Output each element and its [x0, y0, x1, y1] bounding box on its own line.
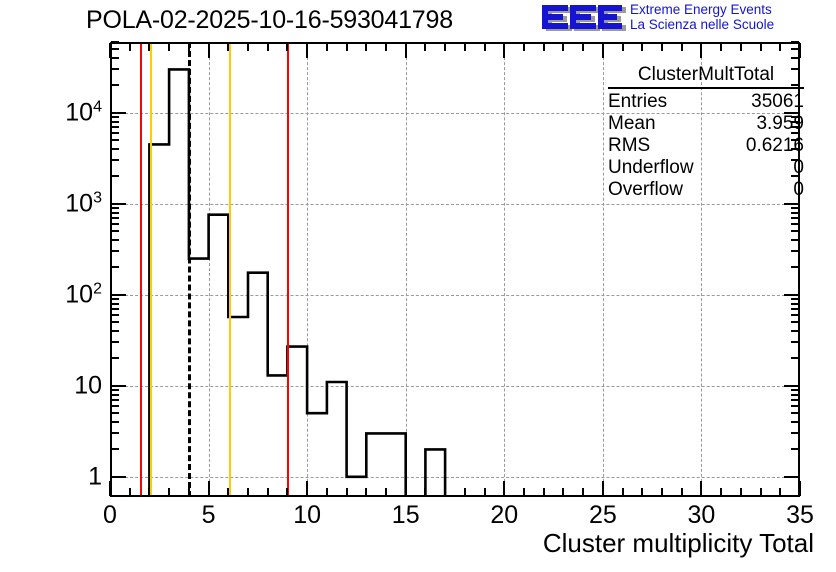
y-tick-minor — [111, 41, 119, 43]
eee-logo-line2: La Scienza nelle Scuole — [630, 17, 835, 32]
stats-row: Overflow0 — [608, 179, 804, 201]
x-tick-minor — [661, 488, 663, 496]
stats-key: RMS — [608, 135, 656, 157]
x-tick-minor — [740, 488, 742, 496]
x-tick-major — [306, 481, 308, 496]
stats-title: ClusterMultTotal — [608, 64, 804, 89]
y-tick-label: 1 — [10, 462, 102, 491]
y-tick-major — [111, 112, 126, 114]
x-tick-label: 10 — [293, 501, 321, 530]
x-tick-minor-top — [424, 43, 426, 51]
y-tick-minor — [111, 321, 119, 323]
y-tick-minor — [111, 139, 119, 141]
x-tick-minor-top — [740, 43, 742, 51]
y-tick-minor — [111, 357, 119, 359]
x-tick-minor — [484, 488, 486, 496]
y-tick-minor — [111, 412, 119, 414]
y-tick-minor — [111, 239, 119, 241]
stats-row: RMS0.6216 — [608, 135, 804, 157]
x-tick-major — [503, 481, 505, 496]
eee-logo-mark-icon — [540, 4, 626, 34]
y-tick-minor-right — [791, 321, 799, 323]
y-tick-minor — [111, 341, 119, 343]
y-tick-minor-right — [791, 217, 799, 219]
x-tick-minor — [562, 488, 564, 496]
x-tick-minor-top — [286, 43, 288, 51]
x-tick-label: 15 — [392, 501, 420, 530]
stats-box: ClusterMultTotal Entries35061Mean3.959RM… — [608, 64, 804, 201]
y-tick-minor — [111, 421, 119, 423]
y-tick-minor-right — [791, 239, 799, 241]
x-tick-label: 35 — [786, 501, 814, 530]
x-tick-label: 5 — [202, 501, 216, 530]
x-tick-minor — [247, 488, 249, 496]
x-tick-minor — [267, 488, 269, 496]
y-tick-minor — [111, 223, 119, 225]
y-tick-minor-right — [791, 341, 799, 343]
x-axis-title: Cluster multiplicity Total — [543, 528, 814, 559]
y-tick-minor-right — [791, 412, 799, 414]
x-tick-minor-top — [661, 43, 663, 51]
y-tick-minor — [111, 303, 119, 305]
y-tick-minor-right — [791, 314, 799, 316]
x-tick-major-top — [405, 43, 407, 58]
x-tick-minor — [346, 488, 348, 496]
x-tick-minor — [523, 488, 525, 496]
stats-value: 3.959 — [756, 113, 804, 135]
y-tick-major — [111, 203, 126, 205]
y-tick-label: 10 — [10, 371, 102, 400]
x-tick-major-top — [208, 43, 210, 58]
x-tick-minor — [326, 488, 328, 496]
x-tick-label: 0 — [103, 501, 117, 530]
x-tick-major — [799, 481, 801, 496]
y-tick-minor-right — [791, 223, 799, 225]
eee-logo-line1: Extreme Energy Events — [630, 2, 835, 17]
x-tick-major-top — [109, 43, 111, 58]
x-tick-minor-top — [247, 43, 249, 51]
x-tick-minor — [168, 488, 170, 496]
y-tick-minor-right — [791, 298, 799, 300]
y-tick-minor-right — [791, 57, 799, 59]
eee-logo: Extreme Energy Events La Scienza nelle S… — [540, 2, 832, 36]
x-tick-minor-top — [760, 43, 762, 51]
x-tick-minor-top — [148, 43, 150, 51]
y-tick-minor — [111, 148, 119, 150]
x-tick-major — [405, 481, 407, 496]
x-tick-minor — [681, 488, 683, 496]
y-tick-minor-right — [791, 394, 799, 396]
x-tick-minor-top — [346, 43, 348, 51]
stats-key: Overflow — [608, 179, 689, 201]
y-tick-minor-right — [791, 448, 799, 450]
y-tick-minor — [111, 57, 119, 59]
y-tick-label: 103 — [10, 189, 102, 218]
x-tick-minor — [444, 488, 446, 496]
y-tick-minor — [111, 84, 119, 86]
stats-value: 0.6216 — [746, 135, 804, 157]
stats-row: Underflow0 — [608, 157, 804, 179]
y-tick-minor — [111, 298, 119, 300]
x-tick-minor-top — [444, 43, 446, 51]
y-tick-minor — [111, 121, 119, 123]
x-tick-minor — [385, 488, 387, 496]
y-tick-minor — [111, 48, 119, 50]
x-tick-major-top — [700, 43, 702, 58]
y-tick-minor-right — [791, 212, 799, 214]
y-tick-minor — [111, 250, 119, 252]
x-tick-minor-top — [622, 43, 624, 51]
y-tick-minor — [111, 389, 119, 391]
y-tick-major-right — [784, 385, 799, 387]
y-tick-minor — [111, 159, 119, 161]
x-tick-minor-top — [582, 43, 584, 51]
y-tick-minor-right — [791, 230, 799, 232]
y-tick-minor — [111, 175, 119, 177]
y-tick-minor — [111, 308, 119, 310]
x-tick-minor-top — [326, 43, 328, 51]
x-tick-label: 25 — [589, 501, 617, 530]
y-tick-minor — [111, 217, 119, 219]
x-tick-major-top — [503, 43, 505, 58]
x-tick-minor-top — [129, 43, 131, 51]
x-tick-minor-top — [681, 43, 683, 51]
y-tick-minor — [111, 68, 119, 70]
stats-rows: Entries35061Mean3.959RMS0.6216Underflow0… — [608, 91, 804, 201]
y-tick-minor-right — [791, 207, 799, 209]
stats-key: Mean — [608, 113, 662, 135]
eee-logo-text: Extreme Energy Events La Scienza nelle S… — [630, 2, 835, 32]
y-tick-minor — [111, 126, 119, 128]
y-tick-minor-right — [791, 399, 799, 401]
y-tick-major-right — [784, 203, 799, 205]
x-tick-minor — [424, 488, 426, 496]
x-tick-minor-top — [562, 43, 564, 51]
x-tick-minor-top — [720, 43, 722, 51]
y-tick-label: 102 — [10, 280, 102, 309]
x-tick-minor — [720, 488, 722, 496]
y-tick-major — [111, 385, 126, 387]
x-tick-minor — [543, 488, 545, 496]
x-tick-minor-top — [188, 43, 190, 51]
y-tick-minor-right — [791, 330, 799, 332]
x-tick-minor — [227, 488, 229, 496]
y-tick-minor — [111, 399, 119, 401]
x-tick-minor-top — [484, 43, 486, 51]
x-tick-major — [700, 481, 702, 496]
y-tick-minor-right — [791, 48, 799, 50]
x-tick-minor — [188, 488, 190, 496]
x-tick-minor-top — [641, 43, 643, 51]
y-tick-minor — [111, 266, 119, 268]
y-tick-minor — [111, 330, 119, 332]
y-tick-major — [111, 294, 126, 296]
x-tick-minor-top — [523, 43, 525, 51]
y-tick-minor-right — [791, 405, 799, 407]
x-tick-minor-top — [365, 43, 367, 51]
y-tick-minor-right — [791, 303, 799, 305]
stats-value: 35061 — [751, 91, 804, 113]
x-tick-major-top — [306, 43, 308, 58]
x-tick-major-top — [799, 43, 801, 58]
x-tick-major-top — [602, 43, 604, 58]
x-tick-major — [602, 481, 604, 496]
x-tick-minor-top — [168, 43, 170, 51]
page-title: POLA-02-2025-10-16-593041798 — [86, 6, 453, 35]
y-tick-minor — [111, 132, 119, 134]
y-tick-minor-right — [791, 432, 799, 434]
x-tick-minor — [760, 488, 762, 496]
stats-row: Entries35061 — [608, 91, 804, 113]
y-tick-label: 104 — [10, 98, 102, 127]
x-tick-minor — [464, 488, 466, 496]
x-tick-minor — [582, 488, 584, 496]
y-tick-minor-right — [791, 308, 799, 310]
stats-key: Underflow — [608, 157, 700, 179]
x-tick-label: 20 — [490, 501, 518, 530]
x-tick-minor — [779, 488, 781, 496]
x-tick-label: 30 — [688, 501, 716, 530]
y-tick-minor — [111, 212, 119, 214]
y-tick-minor — [111, 394, 119, 396]
y-tick-minor — [111, 432, 119, 434]
y-tick-minor-right — [791, 266, 799, 268]
x-tick-minor — [129, 488, 131, 496]
y-tick-minor-right — [791, 421, 799, 423]
x-tick-minor-top — [779, 43, 781, 51]
x-tick-minor — [365, 488, 367, 496]
y-tick-major-right — [784, 294, 799, 296]
x-tick-minor-top — [385, 43, 387, 51]
y-tick-major-right — [784, 476, 799, 478]
x-tick-minor — [148, 488, 150, 496]
x-tick-minor — [622, 488, 624, 496]
x-tick-major — [208, 481, 210, 496]
x-tick-minor-top — [227, 43, 229, 51]
root-canvas: POLA-02-2025-10-16-593041798 — [0, 0, 836, 572]
stats-value: 0 — [793, 179, 804, 201]
y-tick-minor — [111, 405, 119, 407]
stats-key: Entries — [608, 91, 673, 113]
x-tick-major — [109, 481, 111, 496]
y-tick-minor-right — [791, 389, 799, 391]
stats-value: 0 — [793, 157, 804, 179]
x-tick-minor — [286, 488, 288, 496]
x-tick-minor — [641, 488, 643, 496]
y-tick-minor — [111, 314, 119, 316]
stats-row: Mean3.959 — [608, 113, 804, 135]
y-tick-major — [111, 476, 126, 478]
y-tick-minor — [111, 230, 119, 232]
y-tick-minor — [111, 207, 119, 209]
y-tick-minor-right — [791, 250, 799, 252]
x-tick-minor-top — [267, 43, 269, 51]
y-tick-minor — [111, 448, 119, 450]
y-tick-minor — [111, 116, 119, 118]
y-tick-minor-right — [791, 357, 799, 359]
x-tick-minor-top — [543, 43, 545, 51]
y-tick-minor-right — [791, 41, 799, 43]
x-tick-minor-top — [464, 43, 466, 51]
